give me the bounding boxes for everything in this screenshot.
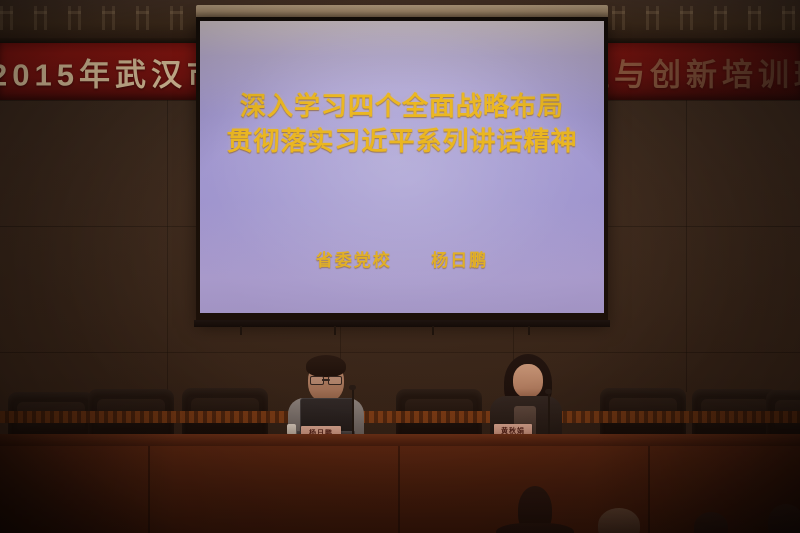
slide-presenter-org: 省委党校	[316, 251, 392, 270]
host-face	[513, 364, 543, 398]
screen-hook-3	[432, 326, 434, 335]
microphone-stand	[548, 392, 550, 434]
audience-head	[768, 504, 800, 533]
screen-hook-2	[334, 326, 336, 335]
glasses-icon	[310, 376, 342, 383]
microphone-stand	[352, 388, 354, 434]
projection-screen-surface: 深入学习四个全面战略布局 贯彻落实习近平系列讲话精神 省委党校 杨日鹏	[200, 21, 604, 313]
slide-title-line-1: 深入学习四个全面战略布局	[200, 89, 604, 124]
screen-hook-1	[240, 326, 242, 335]
microphone-head	[349, 385, 356, 390]
slide-title: 深入学习四个全面战略布局 贯彻落实习近平系列讲话精神	[200, 89, 604, 159]
slide-presenter-line: 省委党校 杨日鹏	[200, 246, 604, 271]
projection-screen-frame: 深入学习四个全面战略布局 贯彻落实习近平系列讲话精神 省委党校 杨日鹏	[196, 17, 608, 323]
table-shading	[0, 434, 800, 533]
microphone-head	[545, 389, 552, 394]
slide-title-line-2: 贯彻落实习近平系列讲话精神	[200, 124, 604, 159]
slide-presenter-name: 杨日鹏	[431, 251, 488, 270]
presenter-hair	[306, 355, 346, 377]
screen-hook-4	[528, 326, 530, 335]
banner-text-left: 2015年武汉市	[0, 49, 223, 94]
wall-accent-strip-shading	[0, 411, 800, 423]
photo-scene: 2015年武汉市 理与创新培训班 深入学习四个全面战略布局 贯彻落实习近平系列讲…	[0, 0, 800, 533]
audience-shoulders	[496, 523, 574, 533]
screen-bottom-bar	[194, 320, 610, 327]
